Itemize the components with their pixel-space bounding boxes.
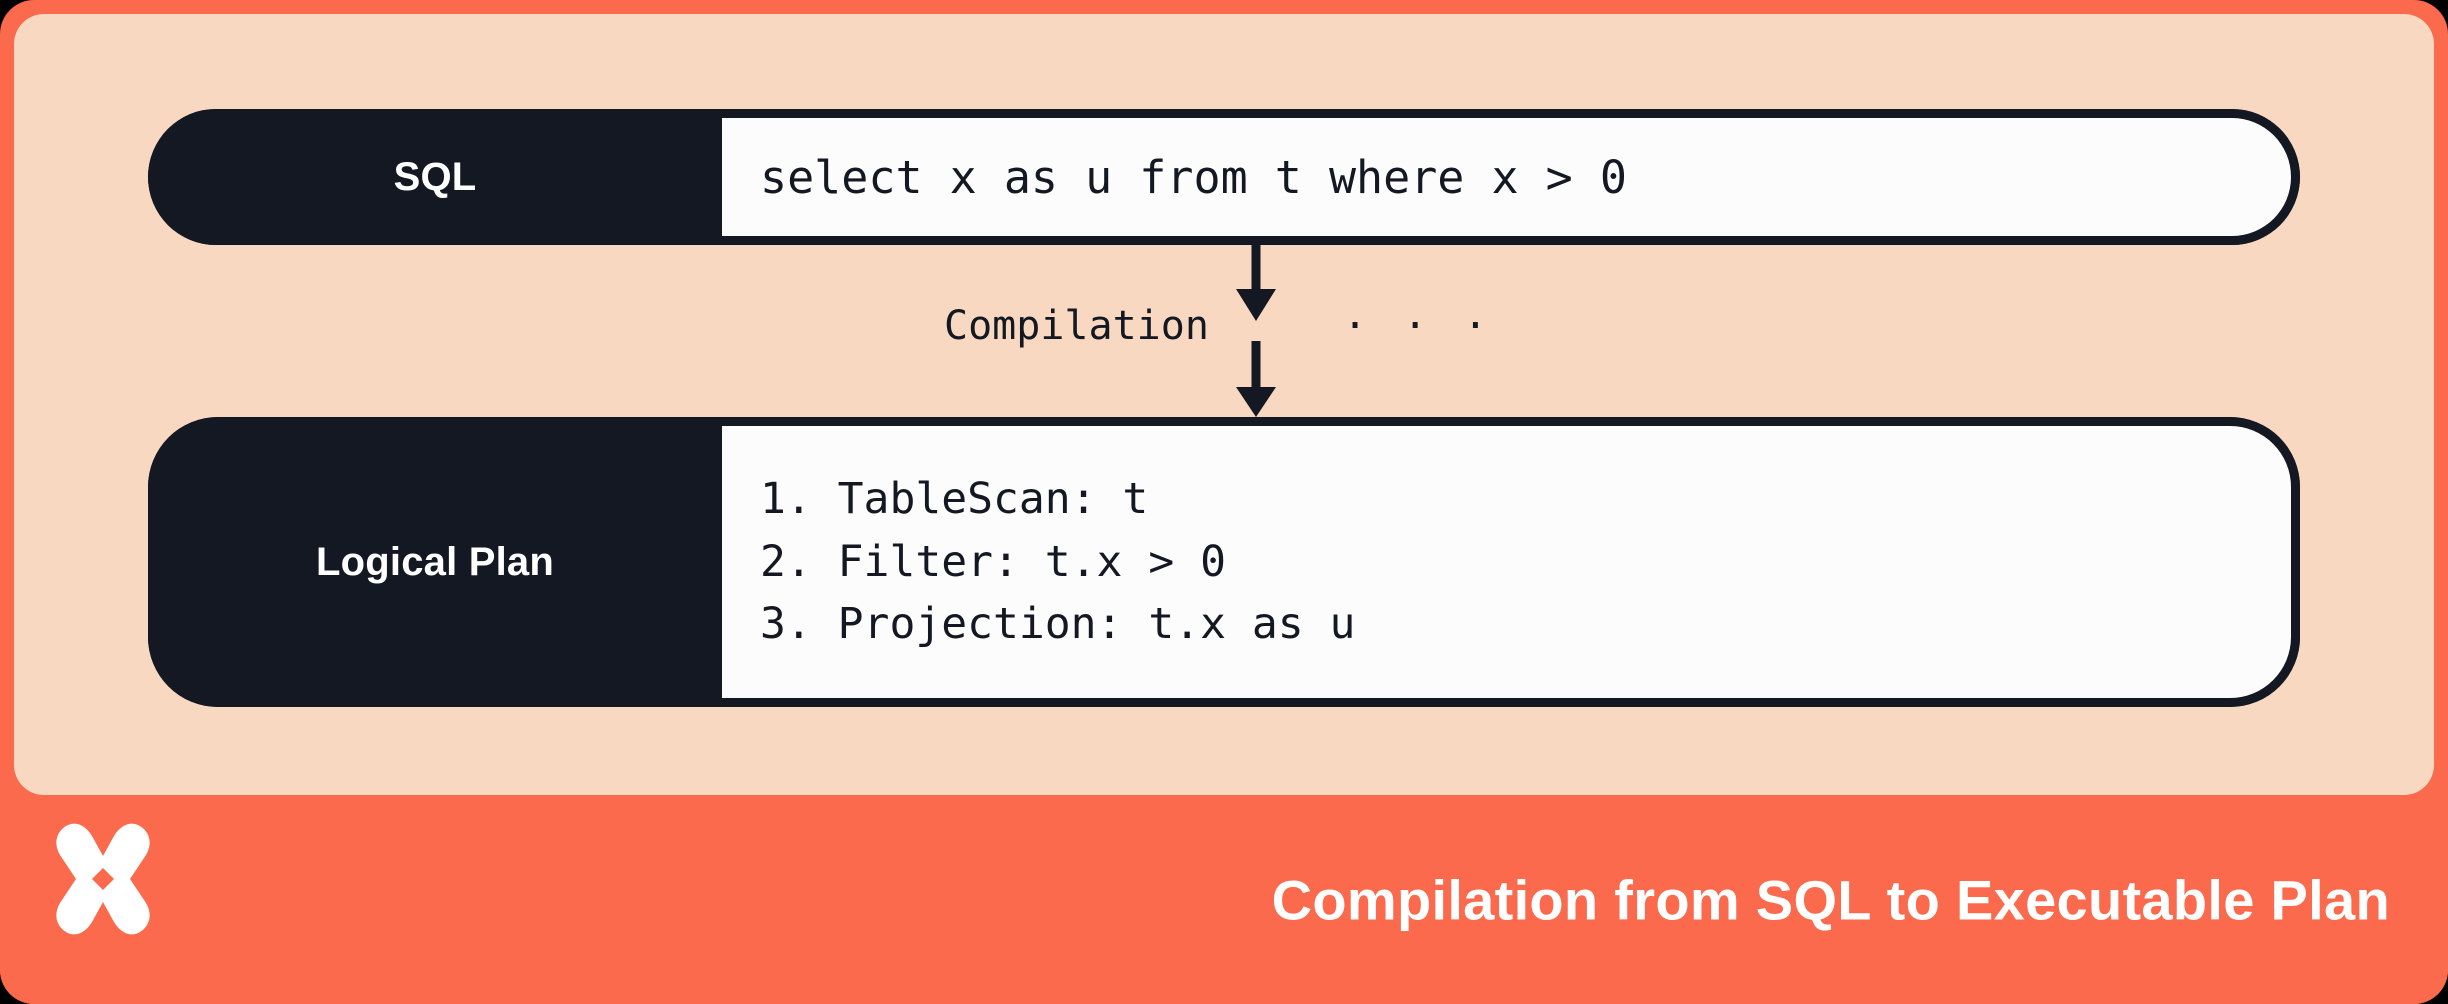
row-content-sql: select x as u from t where x > 0: [722, 109, 2300, 245]
connector-label: Compilation: [944, 303, 1209, 349]
row-label-sql: SQL: [148, 109, 722, 245]
butterfly-x-logo-icon: [44, 820, 162, 938]
row-content-logical-plan: 1. TableScan: t 2. Filter: t.x > 0 3. Pr…: [722, 417, 2300, 707]
diagram-stage: SQL select x as u from t where x > 0 Com…: [14, 14, 2434, 795]
slide-card: SQL select x as u from t where x > 0 Com…: [0, 0, 2448, 1004]
arrow-group-icon: [148, 245, 2300, 417]
connector-ellipsis: · · ·: [1343, 303, 1493, 349]
footer-title: Compilation from SQL to Executable Plan: [1272, 867, 2390, 932]
compilation-connector: Compilation · · ·: [148, 245, 2300, 417]
plan-step-1: 1. TableScan: t: [760, 468, 2251, 530]
slide-footer: Compilation from SQL to Executable Plan: [0, 795, 2448, 1004]
row-label-logical-plan: Logical Plan: [148, 417, 722, 707]
plan-step-2: 2. Filter: t.x > 0: [760, 531, 2251, 593]
sql-query-text: select x as u from t where x > 0: [760, 155, 2251, 200]
diagram-row-logical-plan: Logical Plan 1. TableScan: t 2. Filter: …: [148, 417, 2300, 707]
plan-step-3: 3. Projection: t.x as u: [760, 593, 2251, 655]
diagram-row-sql: SQL select x as u from t where x > 0: [148, 109, 2300, 245]
